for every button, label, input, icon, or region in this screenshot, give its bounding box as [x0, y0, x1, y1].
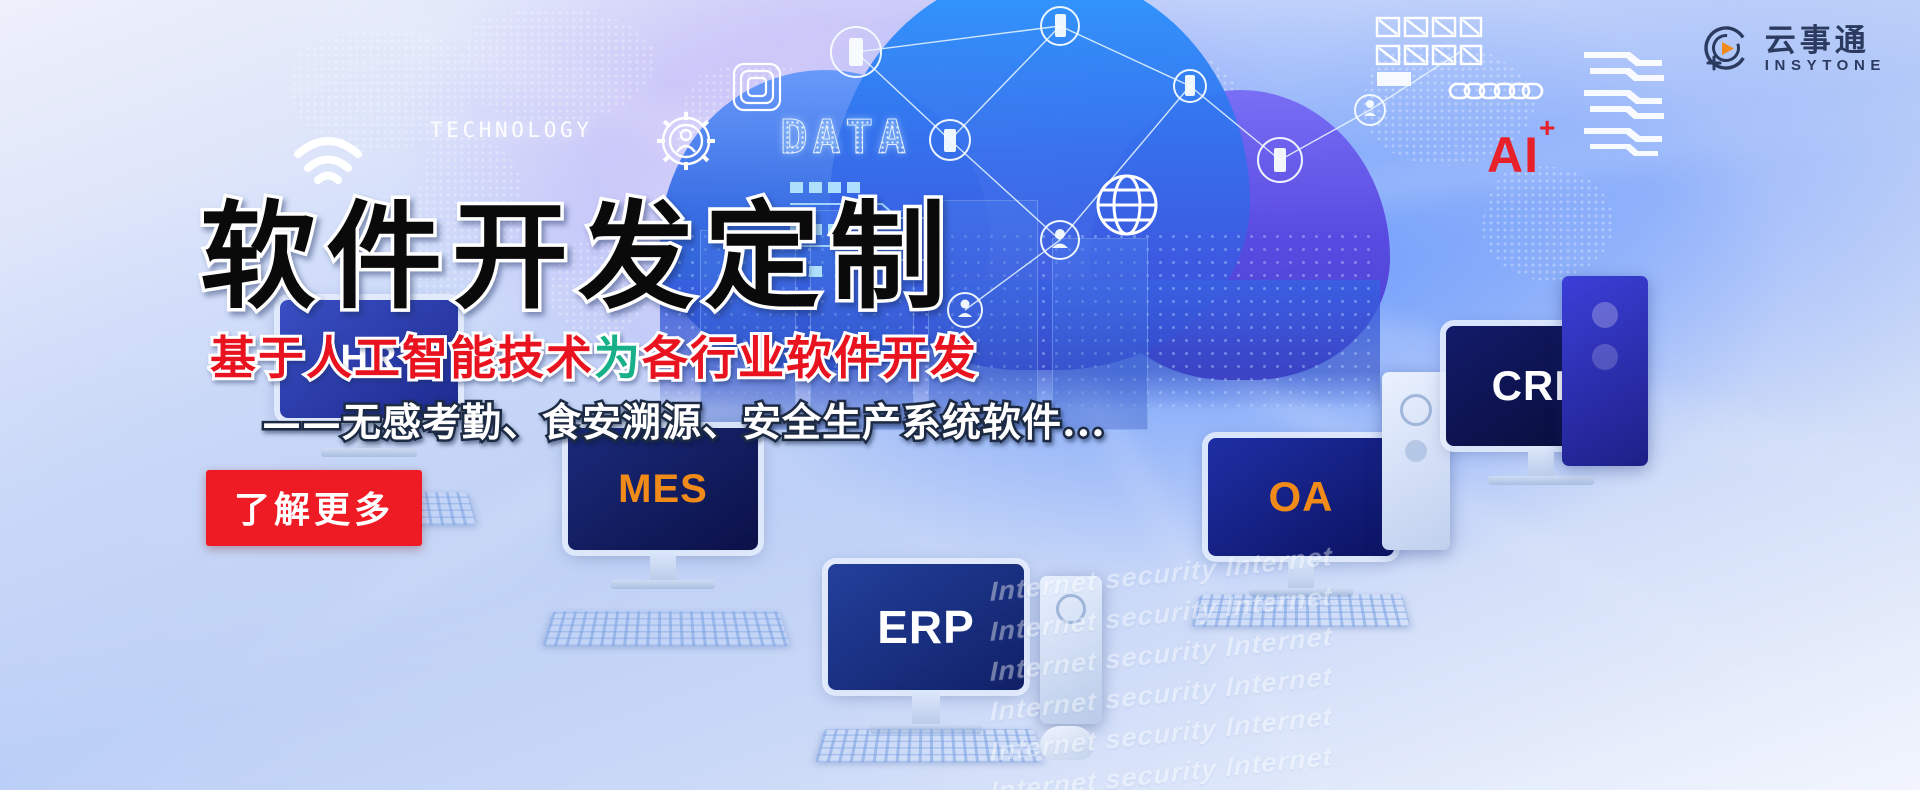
device-label-erp: ERP	[877, 600, 975, 654]
ai-superscript: +	[1539, 112, 1556, 143]
hero-copy: 软件开发定制 基于人工智能技术为各行业软件开发 ——无感考勤、食安溯源、安全生产…	[200, 196, 1260, 546]
server-rack-icon	[1375, 14, 1483, 92]
hero-subline: 基于人工智能技术为各行业软件开发	[210, 333, 1260, 384]
play-circle-logo-icon	[1699, 22, 1753, 76]
logo-name-en: INSYTONE	[1765, 58, 1886, 73]
ai-plus-label: AI+	[1487, 126, 1556, 184]
ai-text: AI	[1487, 127, 1539, 183]
watermark-line: Internet security Internet	[990, 532, 1750, 652]
mouse-icon	[1040, 726, 1094, 760]
chain-link-icon	[1448, 78, 1544, 104]
pc-tower-mid	[1382, 372, 1450, 550]
learn-more-button[interactable]: 了解更多	[206, 470, 422, 546]
hero-banner: HR MES ERP OA	[0, 0, 1920, 790]
device-label-oa: OA	[1269, 473, 1334, 521]
device-crm: CRM	[1446, 326, 1636, 485]
device-erp: ERP	[828, 564, 1024, 734]
logo-name-cn: 云事通	[1765, 25, 1886, 56]
data-label: DATA	[780, 110, 911, 164]
pc-tower-right	[1562, 276, 1648, 466]
keyboard-mes	[542, 612, 789, 647]
page-title: 软件开发定制	[200, 196, 1260, 319]
pc-tower-erp	[1040, 576, 1102, 724]
watermark-line: Internet security Internet	[990, 652, 1750, 772]
gear-user-icon	[655, 110, 717, 172]
chip-icon	[728, 58, 786, 116]
subline-part3: 各行业软件开发	[642, 331, 978, 385]
technology-label: TECHNOLOGY	[430, 118, 592, 142]
keyboard-oa	[1191, 595, 1410, 627]
brand-logo[interactable]: 云事通 INSYTONE	[1699, 22, 1886, 76]
device-label-crm: CRM	[1492, 362, 1591, 410]
watermark-line: Internet security Internet	[990, 572, 1750, 692]
wifi-icon	[290, 128, 366, 190]
subline-part2: 为	[594, 331, 642, 385]
watermark-line: Internet security Internet	[990, 692, 1750, 790]
hero-tagline: ——无感考勤、食安溯源、安全生产系统软件...	[262, 402, 1260, 445]
circuit-bars-icon	[1580, 46, 1666, 156]
subline-part1: 基于人工智能技术	[210, 331, 594, 385]
watermark-line: Internet security Internet	[990, 612, 1750, 732]
keyboard-erp	[815, 729, 1043, 762]
